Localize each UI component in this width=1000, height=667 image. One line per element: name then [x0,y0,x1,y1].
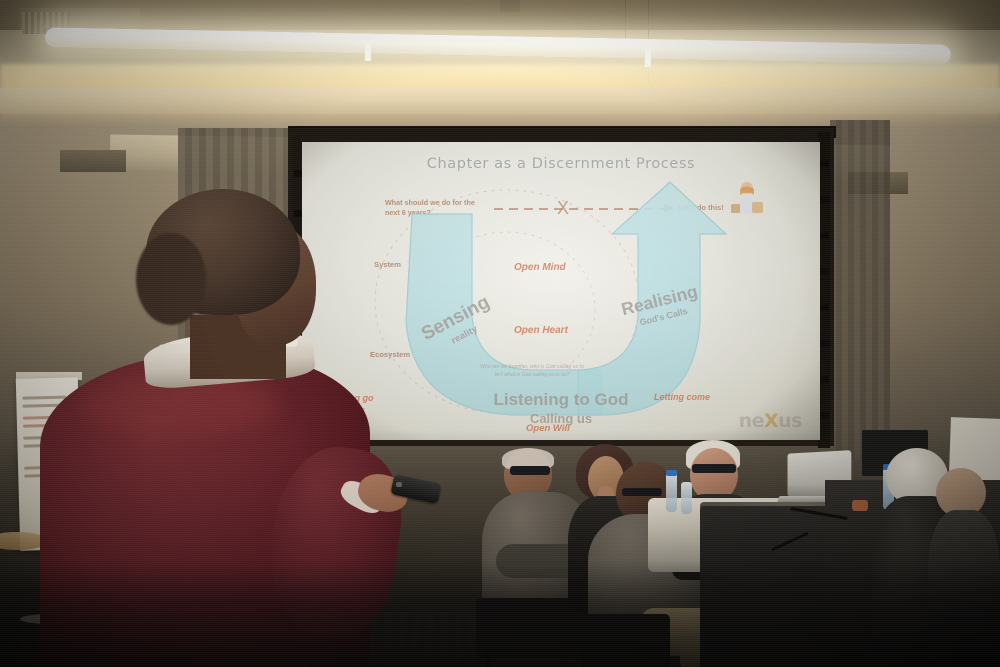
screen-tension-clip [819,160,829,167]
screen-tension-clip [819,412,829,419]
attendee-glasses-icon [692,464,736,473]
screen-tension-clip [819,376,829,383]
ceiling-air-return [60,150,126,172]
wall-curtain-right [830,120,890,460]
screen-tension-clip [819,268,829,275]
presenter-hair-side [136,233,206,325]
tube-joint [365,39,371,61]
attendee-glasses-icon [622,488,662,496]
screen-tension-clip [819,196,829,203]
ceiling-wire [625,0,626,40]
bottle-cap-icon [666,470,677,476]
screen-tension-clip [819,304,829,311]
foreground-shadow [0,560,1000,667]
ceiling-cove-lip [0,88,1000,114]
screen-tension-clip [819,340,829,347]
coffee-cup[interactable] [852,500,868,511]
attendee-glasses-icon [510,466,550,475]
screen-tension-clip [819,232,829,239]
clicker-button-icon[interactable] [396,482,402,487]
water-bottle[interactable] [666,472,677,512]
tube-joint-2 [645,45,651,67]
water-bottle-2[interactable] [681,482,692,514]
ceiling-fixture [500,0,520,12]
conference-room-scene: Chapter as a Discernment Process What sh… [0,0,1000,667]
